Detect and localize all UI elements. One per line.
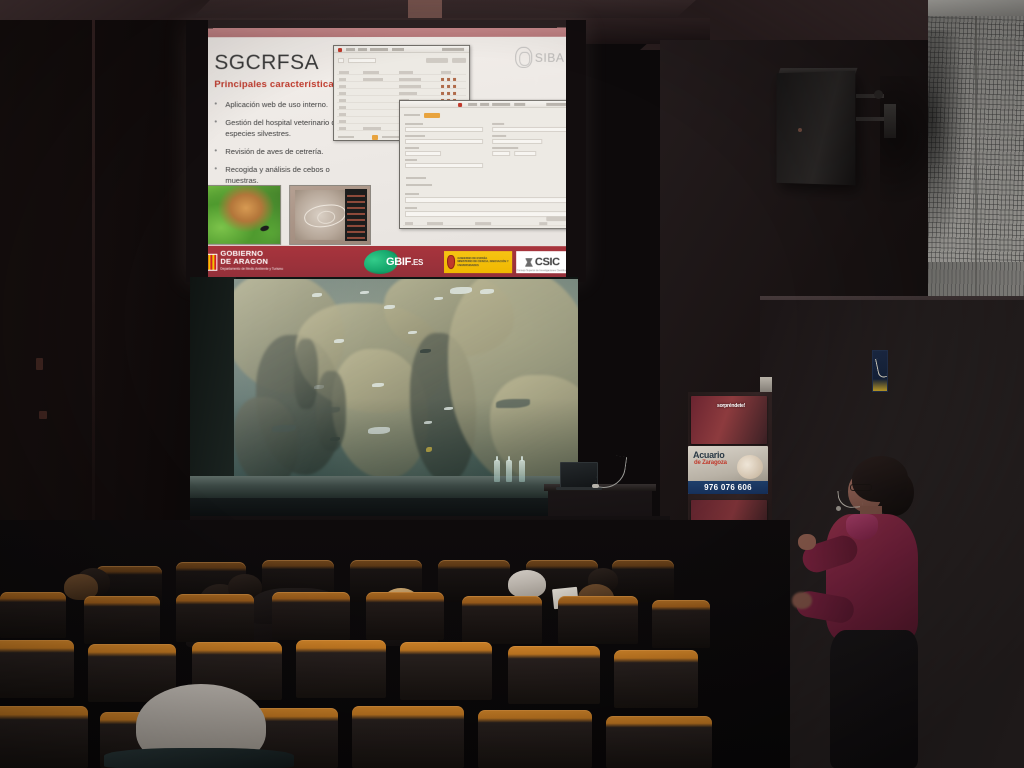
field-label bbox=[405, 123, 423, 125]
new-record-button bbox=[426, 58, 448, 63]
gbif-suffix: .ES bbox=[411, 258, 423, 267]
presenter-hand-left bbox=[792, 592, 812, 609]
csic-subtitle: Consejo Superior de Investigaciones Cien… bbox=[516, 269, 568, 272]
xray-film bbox=[295, 190, 345, 240]
menu-item bbox=[492, 103, 510, 106]
logo-gobierno-de-aragon: GOBIERNO DE ARAGON Departamento de Medio… bbox=[203, 250, 283, 274]
table-row bbox=[337, 77, 466, 82]
bullet-item: Recogida y análisis de cebos o muestras. bbox=[214, 164, 364, 186]
tab-active bbox=[424, 113, 440, 118]
fish bbox=[420, 349, 431, 353]
add-row-button bbox=[546, 216, 566, 221]
table-row bbox=[337, 91, 466, 96]
auditorium-scene: SGCRFSA Principales características Apli… bbox=[0, 0, 1024, 768]
csic-text: CSIC bbox=[535, 256, 560, 268]
wall-left-edge bbox=[92, 20, 95, 580]
shark bbox=[272, 425, 296, 432]
seat[interactable] bbox=[0, 640, 74, 698]
fish bbox=[424, 421, 432, 424]
water-bottle bbox=[519, 460, 525, 482]
bullet-item: Revisión de aves de cetrería. bbox=[214, 146, 364, 157]
menu-item bbox=[346, 48, 355, 51]
slide-photo-xray bbox=[289, 185, 371, 245]
presenter-legs bbox=[830, 630, 918, 768]
date-field bbox=[492, 139, 542, 144]
aquarium-viewing-window bbox=[234, 279, 578, 478]
field-label bbox=[405, 207, 417, 209]
seat[interactable] bbox=[272, 592, 350, 640]
screen-mask-right bbox=[566, 20, 586, 282]
seat[interactable] bbox=[614, 650, 698, 708]
brochure-card-aventura[interactable]: sorpréndete! bbox=[691, 396, 767, 444]
small-field bbox=[514, 151, 536, 156]
text-field bbox=[405, 127, 483, 132]
microphone-capsule-icon bbox=[592, 484, 599, 488]
fish bbox=[434, 297, 443, 300]
select-field bbox=[405, 151, 441, 156]
app-toolbar bbox=[334, 46, 469, 53]
seat[interactable] bbox=[478, 710, 592, 768]
slide-screenshot-form bbox=[399, 100, 574, 229]
emergency-exit-sign bbox=[872, 350, 888, 392]
seat[interactable] bbox=[296, 640, 386, 698]
screen-mask-left bbox=[186, 20, 208, 282]
diver-silhouette bbox=[294, 339, 318, 409]
fish bbox=[360, 291, 369, 294]
app-toolbar bbox=[400, 101, 573, 108]
table-header-row bbox=[337, 70, 466, 75]
audience-shoulders-foreground bbox=[104, 748, 294, 768]
pagination-info bbox=[338, 136, 354, 138]
text-field bbox=[405, 163, 483, 168]
textarea-field bbox=[405, 197, 569, 203]
fish bbox=[334, 339, 344, 343]
seat[interactable] bbox=[176, 594, 254, 642]
fish bbox=[368, 427, 390, 434]
seat[interactable] bbox=[352, 706, 464, 768]
field-label bbox=[405, 159, 417, 161]
bird-beak bbox=[260, 225, 270, 233]
table-row bbox=[337, 84, 466, 89]
seat[interactable] bbox=[84, 596, 160, 644]
slide-top-band bbox=[196, 28, 578, 38]
seat[interactable] bbox=[400, 642, 492, 700]
seat[interactable] bbox=[0, 706, 88, 768]
presenter-hand-right bbox=[798, 534, 816, 550]
acoustic-panel-top-rail bbox=[928, 0, 1024, 16]
user-menu bbox=[442, 48, 464, 51]
menu-item bbox=[468, 103, 477, 106]
water-bottle bbox=[494, 460, 500, 482]
aragon-line2: DE ARAGON bbox=[220, 258, 283, 266]
presentation-slide: SGCRFSA Principales características Apli… bbox=[196, 28, 578, 279]
xray-animal-outline bbox=[303, 203, 347, 229]
field-label bbox=[492, 147, 518, 149]
fish bbox=[372, 383, 384, 387]
seat[interactable] bbox=[366, 592, 444, 640]
brochure-card-acuario[interactable]: Acuario de Zaragoza 976 076 606 bbox=[688, 446, 768, 494]
acoustic-panel-seam bbox=[975, 0, 977, 300]
field-label bbox=[405, 193, 419, 195]
presenter-headset-mic-boom bbox=[837, 489, 862, 509]
fish-yellow bbox=[426, 447, 432, 452]
csic-mark-icon bbox=[525, 258, 533, 267]
shark bbox=[496, 399, 530, 408]
wall-marker-lower bbox=[39, 411, 47, 419]
pagination-current bbox=[372, 135, 378, 140]
section-toggle bbox=[406, 177, 426, 179]
menu-item bbox=[392, 48, 404, 51]
slide-subtitle: Principales características bbox=[214, 79, 339, 90]
fish bbox=[384, 305, 395, 309]
running-person-icon bbox=[875, 357, 887, 378]
speaker-shadow bbox=[880, 76, 950, 206]
water-bottle bbox=[506, 460, 512, 482]
siba-logo: SIBA bbox=[515, 47, 565, 68]
export-button bbox=[452, 58, 466, 63]
fish bbox=[450, 287, 472, 294]
menu-item bbox=[514, 103, 525, 106]
seat[interactable] bbox=[508, 646, 600, 704]
slide-body: SGCRFSA Principales características Apli… bbox=[196, 37, 578, 246]
audience-head bbox=[508, 570, 546, 598]
search-input bbox=[348, 58, 376, 63]
logo-gobierno-de-espana: GOBIERNO DE ESPAÑA MINISTERIO DE CIENCIA… bbox=[444, 251, 512, 273]
acuario-logo-icon bbox=[737, 455, 763, 479]
seat[interactable] bbox=[0, 592, 66, 638]
siba-logo-text: SIBA bbox=[535, 50, 564, 64]
aquarium-left-return-wall bbox=[190, 277, 236, 479]
xray-viewer-panel bbox=[345, 189, 367, 241]
app-logo-icon bbox=[458, 102, 462, 106]
textarea-field bbox=[405, 211, 569, 217]
seat[interactable] bbox=[606, 716, 712, 768]
fish bbox=[408, 331, 417, 334]
seat[interactable] bbox=[462, 596, 542, 644]
small-field bbox=[492, 151, 510, 156]
speaker-mount-knob bbox=[874, 90, 883, 99]
speaker-wall-plate bbox=[884, 104, 896, 138]
gob-line2: MINISTERIO DE CIENCIA, INNOVACIÓN Y UNIV… bbox=[457, 260, 509, 266]
section-toggle bbox=[406, 184, 432, 186]
logo-csic: CSIC Consejo Superior de Investigaciones… bbox=[516, 251, 568, 273]
presenter-headset-mic-capsule bbox=[836, 506, 841, 511]
text-field bbox=[492, 127, 568, 132]
menu-item bbox=[480, 103, 489, 106]
text-field bbox=[405, 139, 483, 144]
app-logo-icon bbox=[338, 48, 342, 52]
field-label bbox=[492, 123, 504, 125]
tab-inactive bbox=[404, 114, 420, 116]
logo-gbif-es: GBIF.ES bbox=[364, 250, 423, 274]
field-label bbox=[405, 147, 419, 149]
filter-select bbox=[338, 58, 344, 63]
slide-footer-logos: GOBIERNO DE ARAGON Departamento de Medio… bbox=[196, 246, 578, 278]
fish bbox=[444, 407, 453, 410]
aragon-line3: Departamento de Medio Ambiente y Turismo bbox=[220, 266, 283, 274]
acuario-subtitle: de Zaragoza bbox=[694, 460, 727, 466]
subtable-header bbox=[403, 221, 570, 226]
seat[interactable] bbox=[558, 596, 638, 644]
speaker-led-icon bbox=[798, 128, 802, 132]
fish bbox=[480, 289, 494, 294]
spain-coat-of-arms-icon bbox=[447, 255, 455, 269]
presenter-collar bbox=[846, 514, 878, 540]
wall-speaker bbox=[776, 71, 855, 186]
menu-item bbox=[370, 48, 388, 51]
wall-left bbox=[0, 20, 196, 580]
siba-mark-icon bbox=[515, 47, 532, 68]
field-label bbox=[492, 135, 506, 137]
field-label bbox=[405, 135, 425, 137]
menu-item bbox=[358, 48, 367, 51]
slide-title: SGCRFSA bbox=[214, 51, 319, 75]
wall-marker-upper bbox=[36, 358, 43, 370]
seat[interactable] bbox=[652, 600, 710, 648]
acuario-title: Acuario bbox=[693, 450, 724, 460]
gbif-text: GBIF bbox=[386, 256, 411, 268]
aquarium-base bbox=[190, 498, 578, 518]
fish bbox=[312, 293, 322, 297]
acuario-phone: 976 076 606 bbox=[688, 481, 768, 494]
presenter bbox=[790, 452, 950, 768]
slide-photo-bird bbox=[203, 185, 281, 245]
diver-silhouette bbox=[316, 371, 346, 451]
brochure-headline: sorpréndete! bbox=[717, 403, 745, 409]
